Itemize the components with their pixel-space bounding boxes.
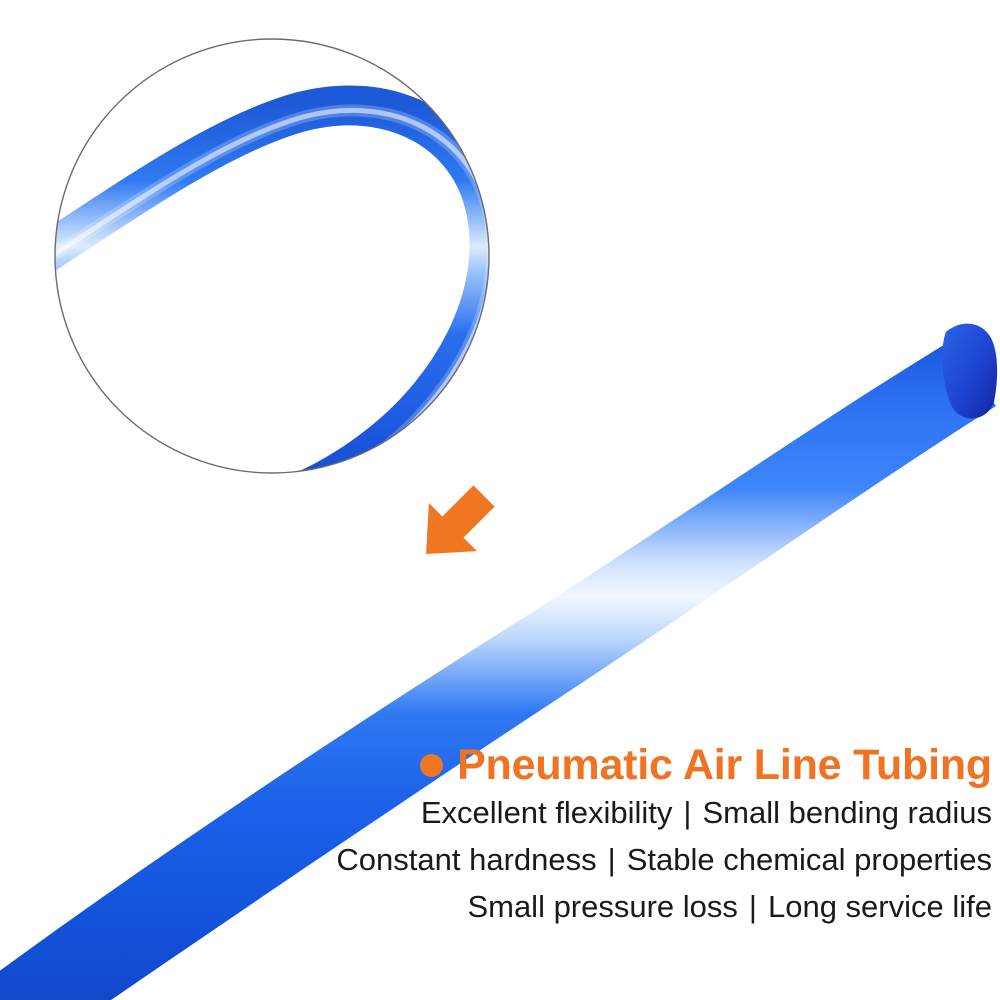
headline-row: Pneumatic Air Line Tubing — [180, 744, 992, 787]
feature-3-right: Long service life — [768, 889, 992, 924]
feature-1-left: Excellent flexibility — [421, 795, 673, 830]
feature-line-2: Constant hardness|Stable chemical proper… — [180, 844, 992, 875]
page-title: Pneumatic Air Line Tubing — [457, 744, 992, 787]
feature-2-right: Stable chemical properties — [627, 842, 992, 877]
feature-2-separator: | — [597, 844, 627, 875]
feature-line-1: Excellent flexibility|Small bending radi… — [180, 797, 992, 828]
feature-2-left: Constant hardness — [336, 842, 596, 877]
orange-arrow — [402, 472, 508, 578]
product-image: Pneumatic Air Line Tubing Excellent flex… — [0, 0, 1000, 1000]
feature-1-right: Small bending radius — [702, 795, 992, 830]
product-feature-text: Pneumatic Air Line Tubing Excellent flex… — [180, 744, 992, 922]
feature-3-separator: | — [738, 891, 768, 922]
feature-line-3: Small pressure loss|Long service life — [180, 891, 992, 922]
magnifier-circle — [0, 39, 493, 525]
feature-1-separator: | — [672, 797, 702, 828]
bullet-dot-icon — [420, 754, 443, 777]
feature-3-left: Small pressure loss — [467, 889, 737, 924]
